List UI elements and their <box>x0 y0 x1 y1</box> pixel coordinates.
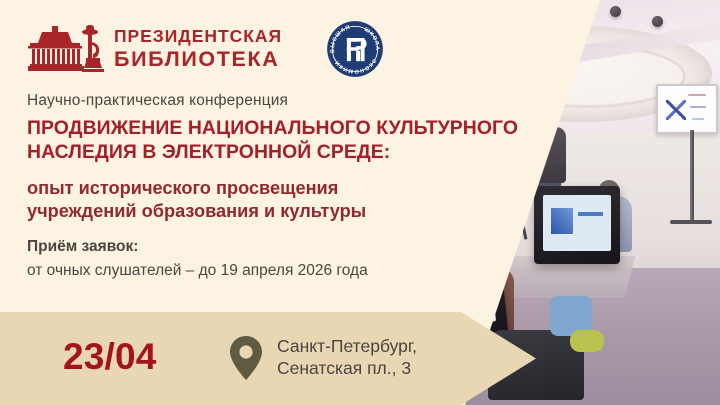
logo-row: ПРЕЗИДЕНТСКАЯ БИБЛИОТЕКА ШКОЛА · ЭКОНОМИ… <box>26 20 384 78</box>
conference-poster: ПРЕЗИДЕНТСКАЯ БИБЛИОТЕКА ШКОЛА · ЭКОНОМИ… <box>0 0 720 405</box>
presidential-library-logo[interactable]: ПРЕЗИДЕНТСКАЯ БИБЛИОТЕКА <box>26 24 282 74</box>
hse-emblem-icon[interactable]: ШКОЛА · ЭКОНОМИКИ · ВЫСШАЯ · <box>326 20 384 78</box>
venue-line-2: Сенатская пл., 3 <box>277 357 417 379</box>
application-block: Приём заявок: от очных слушателей – до 1… <box>27 236 368 282</box>
logo-line-2: БИБЛИОТЕКА <box>114 49 282 71</box>
presidential-library-wordmark: ПРЕЗИДЕНТСКАЯ БИБЛИОТЕКА <box>114 28 282 70</box>
headline-line-1: ПРОДВИЖЕНИЕ НАЦИОНАЛЬНОГО КУЛЬТУРНОГО <box>27 117 518 141</box>
venue-line-1: Санкт-Петербург, <box>277 335 417 357</box>
photo-audience-monitor <box>534 186 620 264</box>
event-kicker: Научно-практическая конференция <box>27 92 288 110</box>
subheadline-line-2: учреждений образования и культуры <box>27 200 366 223</box>
photo-audience-shoe <box>570 330 604 352</box>
photo-presentation-screen <box>656 84 718 134</box>
photo-screen-stand <box>690 130 694 222</box>
photo-slide-text <box>692 118 704 120</box>
event-subheadline: опыт исторического просвещения учреждени… <box>27 177 366 224</box>
logo-line-1: ПРЕЗИДЕНТСКАЯ <box>114 28 282 46</box>
photo-spotlight <box>652 16 663 27</box>
senate-building-icon <box>26 24 104 74</box>
event-venue: Санкт-Петербург, Сенатская пл., 3 <box>277 335 417 379</box>
map-pin-icon <box>228 335 264 381</box>
headline-line-2: НАСЛЕДИЯ В ЭЛЕКТРОННОЙ СРЕДЕ: <box>27 141 518 165</box>
photo-slide-text <box>688 94 706 96</box>
subheadline-line-1: опыт исторического просвещения <box>27 177 366 200</box>
event-date: 23/04 <box>63 336 157 378</box>
event-headline: ПРОДВИЖЕНИЕ НАЦИОНАЛЬНОГО КУЛЬТУРНОГО НА… <box>27 117 518 164</box>
photo-monitor-screen <box>543 195 611 251</box>
application-deadline: от очных слушателей – до 19 апреля 2026 … <box>27 260 368 282</box>
photo-spotlight <box>610 6 621 17</box>
photo-slide-text <box>690 106 706 108</box>
photo-slide-chart <box>666 100 686 120</box>
photo-screen-foot <box>670 220 712 224</box>
application-label: Приём заявок: <box>27 236 368 258</box>
